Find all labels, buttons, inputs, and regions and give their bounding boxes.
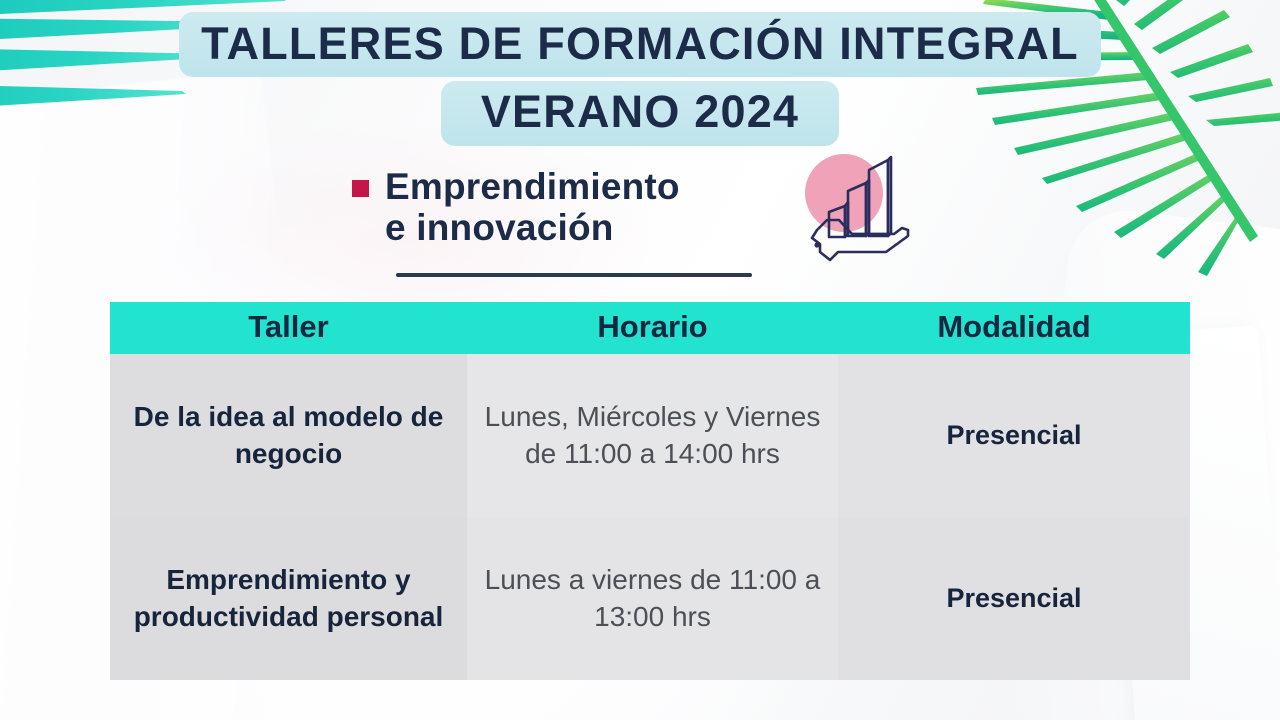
cell-horario: Lunes, Miércoles y Viernes de 11:00 a 14…	[467, 354, 838, 517]
workshops-table: Taller Horario Modalidad De la idea al m…	[110, 302, 1190, 680]
table-header-row: Taller Horario Modalidad	[110, 302, 1190, 354]
poster-canvas: TALLERES DE FORMACIÓN INTEGRAL VERANO 20…	[0, 0, 1280, 720]
cell-modalidad-text: Presencial	[946, 418, 1081, 453]
table-row: Emprendimiento y productividad personal …	[110, 517, 1190, 680]
column-header-modalidad: Modalidad	[838, 302, 1190, 354]
section-heading-underline	[396, 273, 752, 277]
cell-modalidad: Presencial	[838, 354, 1190, 517]
red-square-bullet-icon	[352, 180, 369, 197]
cell-taller-text: Emprendimiento y productividad personal	[124, 562, 453, 636]
cell-horario: Lunes a viernes de 11:00 a 13:00 hrs	[467, 517, 838, 680]
poster-title: TALLERES DE FORMACIÓN INTEGRAL VERANO 20…	[0, 12, 1280, 146]
section-heading-text: Emprendimiento e innovación	[385, 166, 680, 249]
title-line-2: VERANO 2024	[441, 81, 839, 146]
cell-modalidad-text: Presencial	[946, 581, 1081, 616]
table-row: De la idea al modelo de negocio Lunes, M…	[110, 354, 1190, 517]
table-body: De la idea al modelo de negocio Lunes, M…	[110, 354, 1190, 680]
section-heading-line-1: Emprendimiento	[385, 166, 680, 207]
cell-taller-text: De la idea al modelo de negocio	[124, 399, 453, 473]
cell-modalidad: Presencial	[838, 517, 1190, 680]
column-header-taller: Taller	[110, 302, 467, 354]
title-line-1: TALLERES DE FORMACIÓN INTEGRAL	[179, 12, 1101, 77]
column-header-horario: Horario	[467, 302, 838, 354]
cell-taller: De la idea al modelo de negocio	[110, 354, 467, 517]
cell-taller: Emprendimiento y productividad personal	[110, 517, 467, 680]
hand-holding-bar-chart-icon	[790, 148, 922, 278]
cell-horario-text: Lunes a viernes de 11:00 a 13:00 hrs	[481, 562, 824, 636]
section-heading-line-2: e innovación	[385, 207, 680, 248]
cell-horario-text: Lunes, Miércoles y Viernes de 11:00 a 14…	[481, 399, 824, 473]
